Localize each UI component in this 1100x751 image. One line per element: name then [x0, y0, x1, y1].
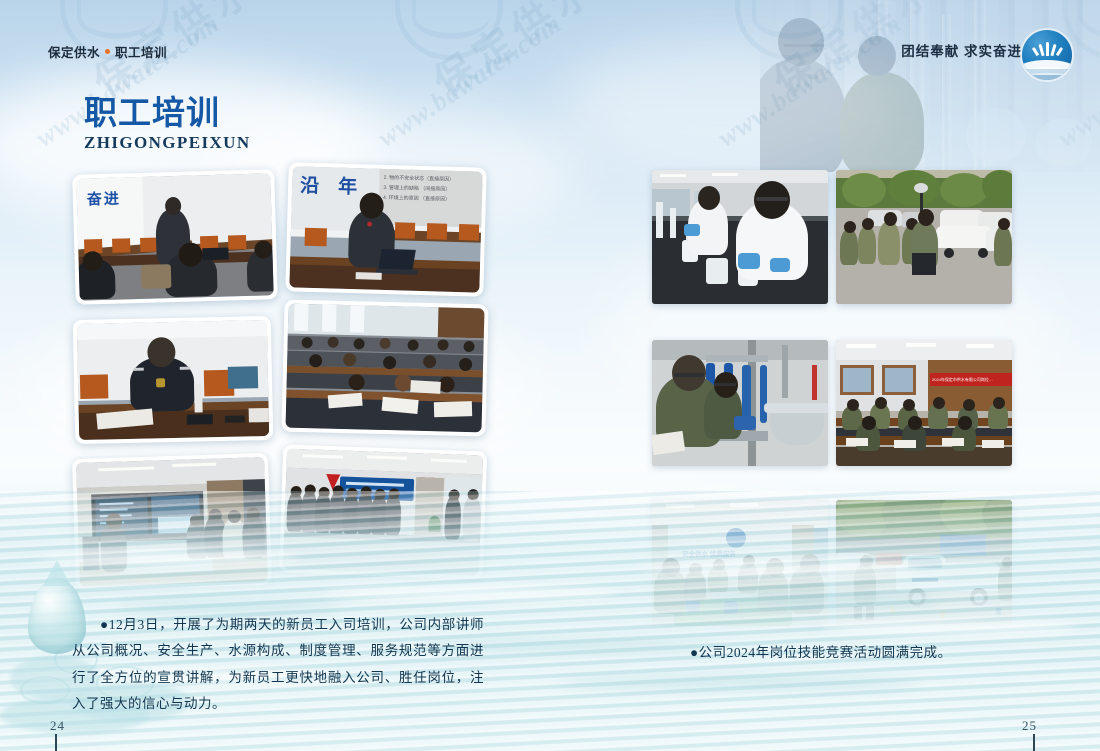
header-background-photo [760, 0, 1100, 172]
photo-l5[interactable] [72, 453, 272, 591]
page-number-left: 24 [50, 718, 65, 734]
photo-r5[interactable]: 安全供水 优质服务 [652, 500, 828, 626]
photo-l2[interactable]: 沿 年 2. 物的不安全状态（直接原因） 3. 管理上的缺陷 （间接原因） 4.… [285, 162, 487, 296]
photo-l1-wall-text: 奋进 [87, 187, 122, 209]
page-number-rule [55, 734, 57, 751]
photo-r4[interactable]: 2024年保定市供水有限公司岗位… [836, 340, 1012, 466]
breadcrumb: 保定供水 职工培训 [48, 42, 167, 61]
photo-r6[interactable] [836, 500, 1012, 626]
right-page-caption: ●公司2024年岗位技能竞赛活动圆满完成。 [690, 640, 1020, 666]
page-number-right: 25 [1022, 718, 1037, 734]
photo-r3[interactable] [652, 340, 828, 466]
photo-r1[interactable] [652, 170, 828, 304]
orange-dot-icon [105, 49, 110, 54]
page-title-chinese: 职工培训 [84, 96, 251, 129]
breadcrumb-section: 职工培训 [115, 42, 167, 61]
left-page-caption: ●12月3日，开展了为期两天的新员工入司培训，公司内部讲师从公司概况、安全生产、… [72, 612, 484, 717]
breadcrumb-company: 保定供水 [48, 42, 100, 61]
photo-r4-banner-text: 2024年保定市供水有限公司岗位… [932, 377, 1010, 383]
page-title-pinyin: ZHIGONGPEIXUN [84, 133, 251, 153]
company-logo-icon [1022, 30, 1072, 80]
page-title: 职工培训 ZHIGONGPEIXUN [84, 96, 251, 153]
brochure-spread: 保定供水 www.bdwater.com 保定供水 www.bdwater.co… [0, 0, 1100, 751]
watermark-logo-icon [395, 0, 503, 60]
photo-l3[interactable] [73, 316, 274, 444]
company-slogan: 团结奉献 求实奋进 [901, 40, 1022, 60]
page-number-rule [1033, 734, 1035, 751]
photo-l6[interactable] [279, 444, 487, 579]
watermark-chinese: 保定供水 [420, 0, 608, 108]
photo-r2[interactable] [836, 170, 1012, 304]
photo-r5-wall-text: 安全供水 优质服务 [682, 548, 736, 558]
photo-l4[interactable] [281, 300, 488, 437]
watermark-url: www.bdwater.com [372, 8, 568, 154]
photo-l1[interactable]: 奋进 [72, 169, 278, 305]
